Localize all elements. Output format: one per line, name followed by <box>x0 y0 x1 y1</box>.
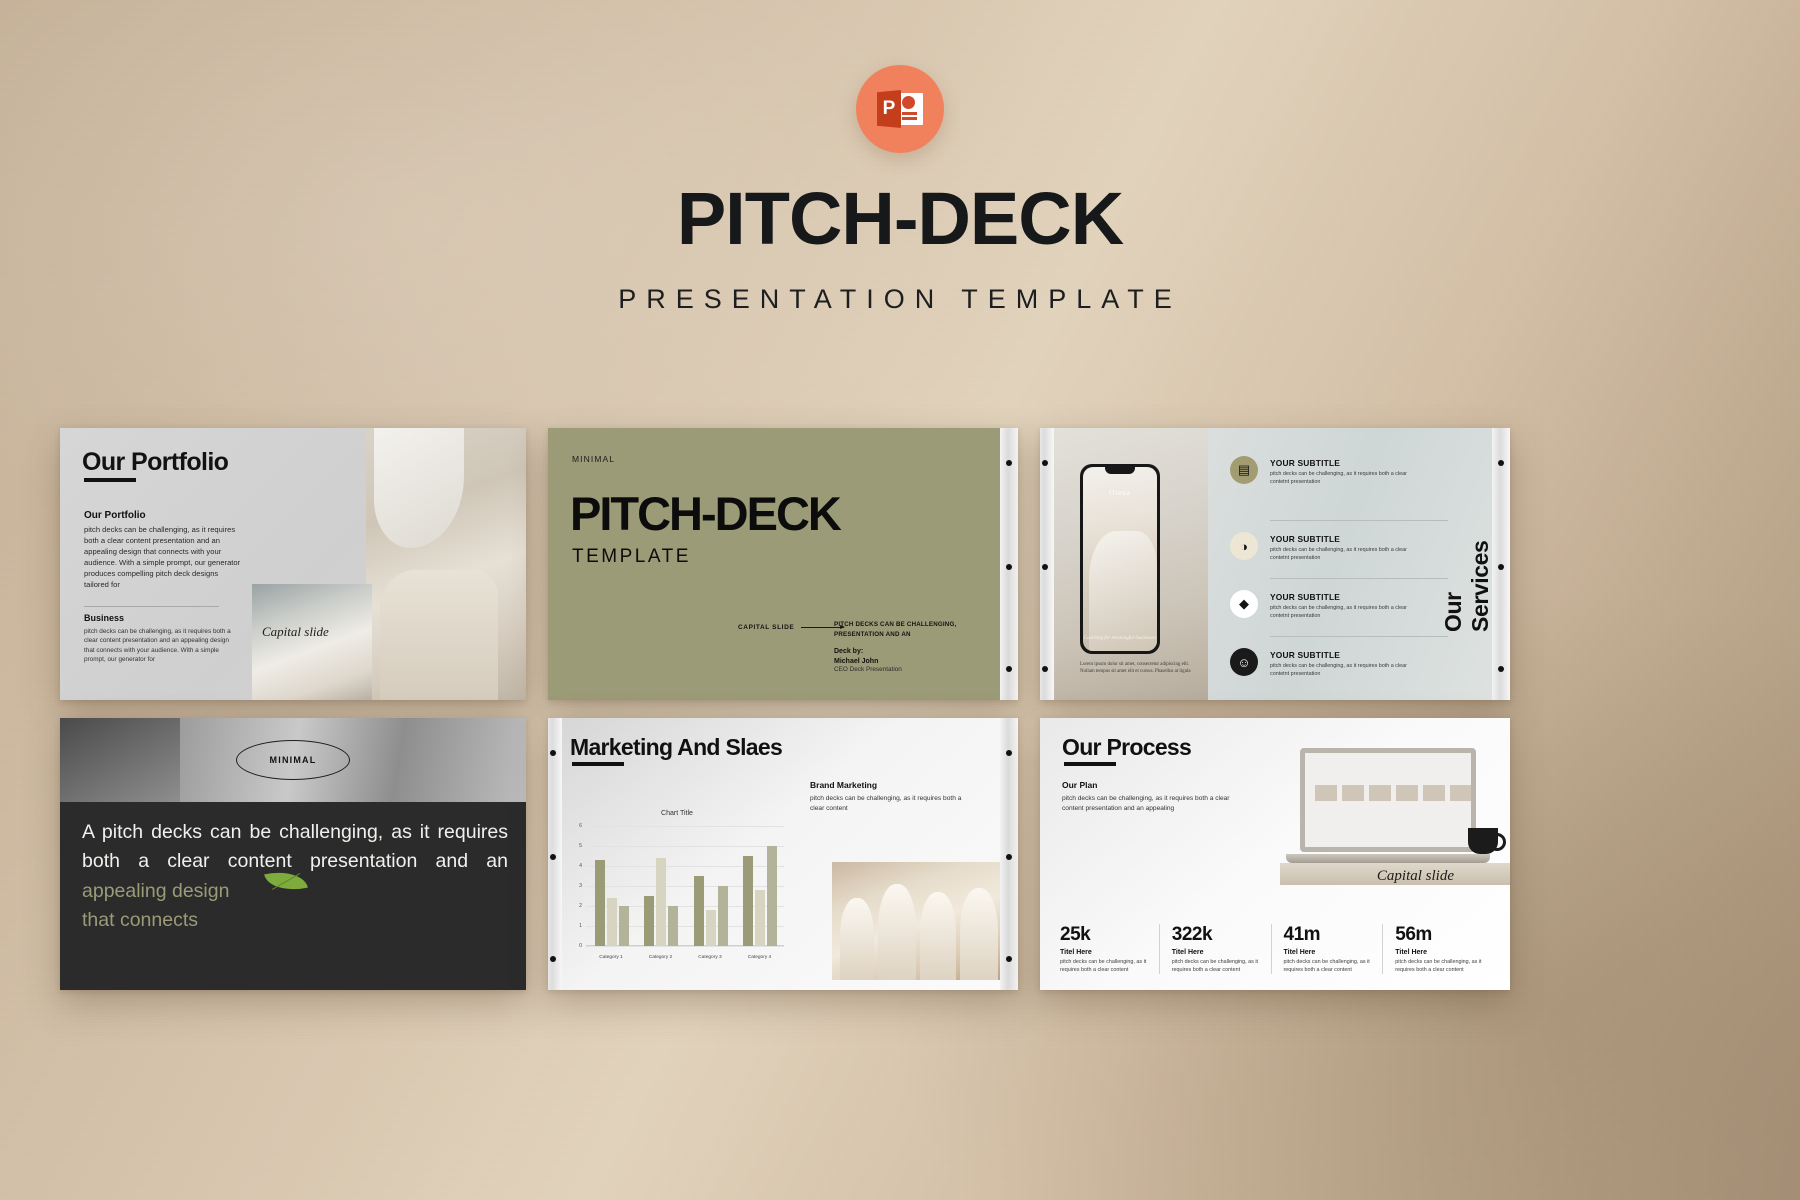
chart-bar-group <box>743 846 777 946</box>
chart-x-tick: Category 3 <box>686 955 734 960</box>
chart-plot-area: 0123456Category 1Category 2Category 3Cat… <box>586 826 784 946</box>
chart-y-tick: 6 <box>570 823 582 829</box>
slide2-deck-by-label: Deck by: <box>834 647 984 656</box>
binder-hole-14 <box>1006 854 1012 860</box>
service-divider-1 <box>1270 520 1448 521</box>
stat-2-title: Titel Here <box>1172 949 1261 956</box>
phone-screen: Olena Coaching for meaningful businesses <box>1083 467 1157 651</box>
screen-thumb-6 <box>1450 785 1472 801</box>
binder-hole-8 <box>1498 564 1504 570</box>
phone-notch <box>1105 467 1135 474</box>
slide-thumbnail-pitch-deck-cover[interactable]: MINIMAL PITCH-DECK TEMPLATE CAPITAL SLID… <box>548 428 1018 700</box>
slide2-eyebrow: MINIMAL <box>572 454 615 464</box>
binder-hole-10 <box>550 750 556 756</box>
slide6-plan-title: Our Plan <box>1062 780 1097 790</box>
slide2-footer-line2: PRESENTATION AND AN <box>834 630 984 640</box>
slide1-section1-title: Our Portfolio <box>84 510 146 521</box>
poster-canvas: P PITCH-DECK PRESENTATION TEMPLATE Our P… <box>0 0 1800 1200</box>
chart-y-tick: 1 <box>570 923 582 929</box>
chart-x-tick: Category 2 <box>636 955 684 960</box>
portfolio-photo-right <box>366 428 526 700</box>
chart-bar <box>668 906 678 946</box>
slide2-footer-left: CAPITAL SLIDE <box>738 624 794 631</box>
chart-bar-group <box>595 860 629 946</box>
chart-bar <box>718 886 728 946</box>
quote-highlight1: appealing design <box>82 880 229 902</box>
slide1-divider <box>84 606 219 607</box>
quote-part1: A pitch decks can be challenging, as it … <box>82 821 508 872</box>
slide2-footer-line1: PITCH DECKS CAN BE CHALLENGING, <box>834 620 984 630</box>
chart-x-tick: Category 4 <box>735 955 783 960</box>
slide1-photo-caption: Capital slide <box>262 624 329 640</box>
stat-3-body: pitch decks can be challenging, as it re… <box>1284 958 1373 974</box>
slide2-footer-right: PITCH DECKS CAN BE CHALLENGING, PRESENTA… <box>834 620 984 675</box>
screen-thumb-2 <box>1342 785 1364 801</box>
stat-1-title: Titel Here <box>1060 949 1149 956</box>
slide6-signature: Capital slide <box>1377 868 1454 885</box>
slide5-brand-title: Brand Marketing <box>810 780 877 790</box>
ppt-logo-left-panel: P <box>877 90 901 128</box>
screen-thumb-1 <box>1315 785 1337 801</box>
slide5-binder-strip-right <box>1000 718 1018 990</box>
slide1-heading: Our Portfolio <box>82 448 228 477</box>
ppt-bar-1 <box>902 112 917 115</box>
binder-hole-12 <box>550 956 556 962</box>
chart-bar-group <box>694 876 728 946</box>
chart-bar <box>755 890 765 946</box>
slide2-deck-by-role: CEO Deck Presentation <box>834 666 984 675</box>
laptop-base <box>1286 854 1490 863</box>
service-4-text: YOUR SUBTITLE pitch decks can be challen… <box>1270 650 1420 678</box>
slide1-section2-title: Business <box>84 613 124 623</box>
chart-y-tick: 5 <box>570 843 582 849</box>
chart-bar <box>607 898 617 946</box>
binder-hole-1 <box>1006 460 1012 466</box>
chart-bar <box>767 846 777 946</box>
phone-mockup: Olena Coaching for meaningful businesses <box>1080 464 1160 654</box>
chart-gridline <box>586 946 784 947</box>
stat-item-3: 41m Titel Here pitch decks can be challe… <box>1271 924 1383 974</box>
phone-caption: Coaching for meaningful businesses <box>1083 636 1157 641</box>
service-3-text: YOUR SUBTITLE pitch decks can be challen… <box>1270 592 1420 620</box>
phone-brand-label: Olena <box>1083 489 1157 497</box>
photo-figure-3 <box>920 892 956 980</box>
chart-bar <box>595 860 605 946</box>
stat-item-2: 322k Titel Here pitch decks can be chall… <box>1159 924 1271 974</box>
slide1-heading-underline <box>84 478 136 482</box>
slide1-section2-body: pitch decks can be challenging, as it re… <box>84 627 234 664</box>
binder-hole-13 <box>1006 750 1012 756</box>
coffee-cup-icon <box>1468 828 1498 854</box>
chart-y-tick: 4 <box>570 863 582 869</box>
service-1-title: YOUR SUBTITLE <box>1270 458 1420 468</box>
presentation-icon: ▤ <box>1230 456 1258 484</box>
page-subtitle: PRESENTATION TEMPLATE <box>0 284 1800 315</box>
chart-bar <box>706 910 716 946</box>
slide-thumbnail-marketing-sales[interactable]: Marketing And Slaes Brand Marketing pitc… <box>548 718 1018 990</box>
slide6-heading: Our Process <box>1062 734 1191 761</box>
service-1-body: pitch decks can be challenging, as it re… <box>1270 470 1420 486</box>
screen-thumb-3 <box>1369 785 1391 801</box>
slide2-subtitle: TEMPLATE <box>572 546 691 568</box>
slide-thumbnail-our-process[interactable]: Our Process Our Plan pitch decks can be … <box>1040 718 1510 990</box>
service-3-title: YOUR SUBTITLE <box>1270 592 1420 602</box>
slide6-heading-underline <box>1064 762 1116 766</box>
chart-bar <box>619 906 629 946</box>
stat-3-number: 41m <box>1284 924 1373 946</box>
slide5-brand-body: pitch decks can be challenging, as it re… <box>810 794 970 814</box>
binder-hole-6 <box>1042 666 1048 672</box>
chart-bar <box>743 856 753 946</box>
slide-thumbnail-our-portfolio[interactable]: Our Portfolio Our Portfolio pitch decks … <box>60 428 526 700</box>
chart-bar-group <box>644 858 678 946</box>
chart-x-tick: Category 1 <box>587 955 635 960</box>
slide3-binder-strip-right <box>1492 428 1510 700</box>
ppt-logo-right-panel <box>898 93 923 125</box>
binder-hole-5 <box>1042 564 1048 570</box>
diamond-icon: ◆ <box>1230 590 1258 618</box>
palette-icon: ◑ <box>1230 532 1258 560</box>
stat-1-number: 25k <box>1060 924 1149 946</box>
service-3-body: pitch decks can be challenging, as it re… <box>1270 604 1420 620</box>
laptop-mockup <box>1286 744 1502 884</box>
stat-item-4: 56m Titel Here pitch decks can be challe… <box>1382 924 1494 974</box>
laptop-screen-thumbnails <box>1315 785 1472 801</box>
binder-hole-9 <box>1498 666 1504 672</box>
quote-highlight2: that connects <box>82 909 198 931</box>
laptop-screen <box>1300 748 1476 852</box>
stat-4-title: Titel Here <box>1395 949 1484 956</box>
slide1-section1-body: pitch decks can be challenging, as it re… <box>84 524 244 590</box>
chart-title: Chart Title <box>566 810 788 817</box>
binder-hole-4 <box>1042 460 1048 466</box>
chart-bar <box>656 858 666 946</box>
service-2-body: pitch decks can be challenging, as it re… <box>1270 546 1420 562</box>
service-4-body: pitch decks can be challenging, as it re… <box>1270 662 1420 678</box>
screen-thumb-5 <box>1423 785 1445 801</box>
binder-hole-15 <box>1006 956 1012 962</box>
photo-figure-2 <box>878 884 916 980</box>
slide5-binder-strip <box>548 718 562 990</box>
chart-y-tick: 3 <box>570 883 582 889</box>
chart-gridline <box>586 826 784 827</box>
service-1-text: YOUR SUBTITLE pitch decks can be challen… <box>1270 458 1420 486</box>
slide2-title: PITCH-DECK <box>570 490 840 537</box>
stat-2-body: pitch decks can be challenging, as it re… <box>1172 958 1261 974</box>
services-lorem-text: Lorem ipsum dolor sit amet, consectetur … <box>1080 661 1198 676</box>
powerpoint-icon: P <box>856 65 944 153</box>
stat-item-1: 25k Titel Here pitch decks can be challe… <box>1060 924 1159 974</box>
screen-thumb-4 <box>1396 785 1418 801</box>
slide3-binder-strip <box>1040 428 1054 700</box>
slide5-heading-underline <box>572 762 624 766</box>
slide-thumbnail-our-services[interactable]: Olena Coaching for meaningful businesses… <box>1040 428 1510 700</box>
service-divider-3 <box>1270 636 1448 637</box>
services-photo: Olena Coaching for meaningful businesses <box>1054 428 1208 700</box>
service-4-title: YOUR SUBTITLE <box>1270 650 1420 660</box>
service-2-text: YOUR SUBTITLE pitch decks can be challen… <box>1270 534 1420 562</box>
portfolio-photo-inset: Capital slide <box>252 584 372 700</box>
stat-1-body: pitch decks can be challenging, as it re… <box>1060 958 1149 974</box>
stat-3-title: Titel Here <box>1284 949 1373 956</box>
bar-chart: Chart Title 0123456Category 1Category 2C… <box>566 810 788 970</box>
ppt-bar-2 <box>902 117 917 120</box>
minimal-badge: MINIMAL <box>236 740 350 780</box>
services-vertical-title: Our Services <box>1440 496 1494 632</box>
slide2-deck-by-name: Michael John <box>834 657 984 666</box>
slide6-plan-body: pitch decks can be challenging, as it re… <box>1062 794 1242 814</box>
chart-y-tick: 0 <box>570 943 582 949</box>
binder-hole-11 <box>550 854 556 860</box>
ppt-pie-shape <box>902 96 915 109</box>
stat-4-number: 56m <box>1395 924 1484 946</box>
service-divider-2 <box>1270 578 1448 579</box>
slide-thumbnail-quote[interactable]: MINIMAL A pitch decks can be challenging… <box>60 718 526 990</box>
process-stats: 25k Titel Here pitch decks can be challe… <box>1060 924 1494 974</box>
chart-bar <box>694 876 704 946</box>
chart-y-tick: 2 <box>570 903 582 909</box>
slide2-binder-strip <box>1000 428 1018 700</box>
phone-photo-subject <box>1089 531 1157 651</box>
lightbulb-icon: ☺ <box>1230 648 1258 676</box>
slide5-heading: Marketing And Slaes <box>570 734 782 761</box>
marketing-photo <box>832 862 1008 980</box>
binder-hole-3 <box>1006 666 1012 672</box>
stat-2-number: 322k <box>1172 924 1261 946</box>
binder-hole-2 <box>1006 564 1012 570</box>
powerpoint-logo-mark: P <box>877 88 923 130</box>
page-title: PITCH-DECK <box>0 176 1800 261</box>
binder-hole-7 <box>1498 460 1504 466</box>
services-panel: ▤ YOUR SUBTITLE pitch decks can be chall… <box>1208 428 1510 700</box>
photo-figure-1 <box>840 898 874 980</box>
chart-bar <box>644 896 654 946</box>
stat-4-body: pitch decks can be challenging, as it re… <box>1395 958 1484 974</box>
service-2-title: YOUR SUBTITLE <box>1270 534 1420 544</box>
photo-figure-4 <box>960 888 998 980</box>
